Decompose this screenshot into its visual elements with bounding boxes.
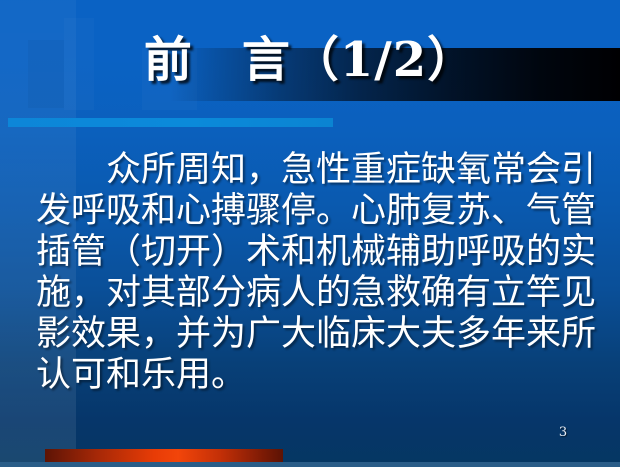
- title-accent-rule: [8, 118, 333, 127]
- slide-title: 前 言（1/2）: [0, 30, 620, 90]
- slide-page-number: 3: [548, 425, 578, 440]
- footer-accent-bar: [45, 449, 283, 462]
- presentation-slide: 前 言（1/2） 众所周知，急性重症缺氧常会引发呼吸和心搏骤停。心肺复苏、气管插…: [0, 0, 620, 467]
- slide-body-text: 众所周知，急性重症缺氧常会引发呼吸和心搏骤停。心肺复苏、气管插管（切开）术和机械…: [36, 150, 596, 396]
- bottom-edge-strip: [0, 462, 620, 467]
